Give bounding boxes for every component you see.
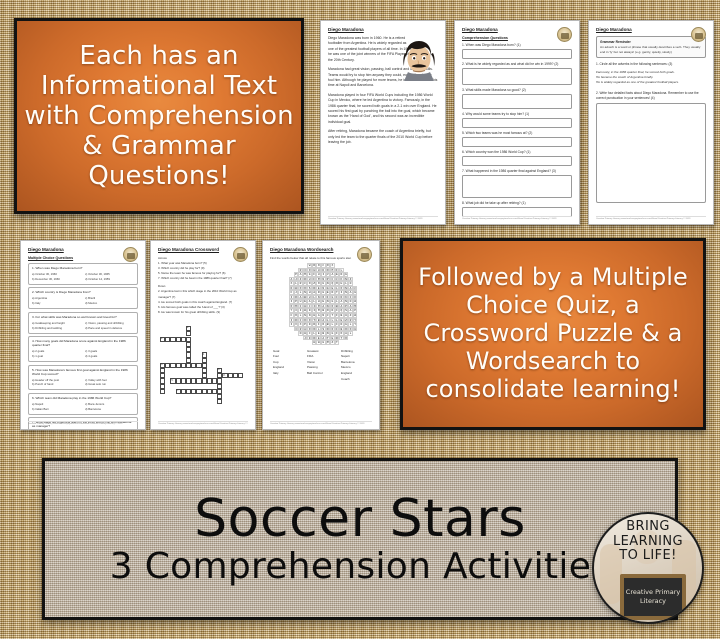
mcq-question: 5. How was Maradona's famous first goal … [32, 368, 134, 376]
promo-top-text: Each has an Informational Text with Comp… [17, 41, 301, 192]
question-text: 1. When was Diego Maradona born? (1) [462, 43, 572, 47]
question-text: 6. Which country won the 1986 World Cup?… [462, 150, 572, 154]
logo-text: BRING LEARNING TO LIFE! [594, 520, 702, 564]
wordsearch-word: Italy [273, 371, 301, 377]
logo-seal-icon [691, 27, 706, 42]
answer-box[interactable] [462, 49, 572, 59]
mcq-option[interactable]: c) October 30, 1965 [85, 272, 110, 276]
page-footer: Creative Primary Literacy www.teacherspa… [596, 216, 706, 221]
mcq-option[interactable]: b) 1 goal [32, 354, 43, 358]
page-subtitle: Multiple Choice Questions [28, 256, 138, 260]
page-footer: Creative Primary Literacy www.teacherspa… [462, 216, 572, 221]
mcq-option[interactable]: c) Brazil [85, 296, 95, 300]
mcq-option[interactable]: a) 2 goals [32, 349, 44, 353]
promo-panel-top: Each has an Informational Text with Comp… [14, 18, 304, 214]
question-text: 8. What job did he take up after retirin… [462, 201, 572, 205]
chalkboard-icon: Creative Primary Literacy [620, 574, 686, 620]
text-paragraph-3: Maradona played in four FIFA World Cups … [328, 93, 438, 126]
mcq-option[interactable]: c) 3 goals [85, 349, 97, 353]
answer-box[interactable] [462, 68, 572, 85]
mcq-option[interactable]: a) Argentina [32, 296, 47, 300]
mcq-option[interactable]: a) October 30, 1960 [32, 272, 57, 276]
page-title: Diego Maradona [28, 247, 113, 252]
banner-title: Soccer Stars [194, 493, 526, 545]
crossword-clue: 8. He was known for his great dribbling … [158, 310, 248, 315]
promo-bottom-text: Followed by a Multiple Choice Quiz, a Cr… [403, 264, 703, 403]
mcq-option[interactable]: c) Boca Juniors [85, 402, 104, 406]
mcq-item[interactable]: 6. Which team did Maradona play in the 1… [28, 393, 138, 415]
page-footer: Creative Primary Literacy www.teacherspa… [28, 421, 138, 426]
page-footer: Creative Primary Literacy www.teacherspa… [270, 421, 372, 426]
worksheet-page-wordsearch[interactable]: Diego Maradona Wordsearch Find the words… [262, 240, 380, 430]
page-title: Diego Maradona [462, 27, 547, 32]
page-title: Diego Maradona [328, 27, 438, 32]
worksheet-page-text[interactable]: Diego Maradona Diego Maradona was born i… [320, 20, 446, 225]
logo-line-3: TO LIFE! [594, 549, 702, 564]
mcq-option[interactable]: c) Volley with foot [85, 378, 107, 382]
instruction-1: 1. Circle all the adverbs in the followi… [596, 62, 706, 67]
logo-seal-icon [123, 247, 138, 262]
mcq-question: 1. When was Diego Maradona born? [32, 266, 134, 270]
mcq-option[interactable]: d) Barcelona [85, 407, 101, 411]
wordsearch-cell [353, 340, 358, 345]
answer-box[interactable] [462, 175, 572, 198]
brand-logo-badge[interactable]: BRING LEARNING TO LIFE! Creative Primary… [592, 512, 704, 624]
text-paragraph-4: After retiring, Maradona became the coac… [328, 129, 438, 145]
mcq-item[interactable]: 1. When was Diego Maradona born? a) Octo… [28, 263, 138, 285]
mcq-option[interactable]: d) October 14, 1959 [85, 277, 110, 281]
maradona-portrait-icon [399, 37, 439, 81]
logo-seal-icon [233, 247, 248, 262]
chalkboard-text: Creative Primary Literacy [624, 588, 682, 606]
mcq-option[interactable]: d) Mexico [85, 301, 97, 305]
wordsearch-word: Ball Control [307, 371, 335, 377]
worksheet-page-comprehension[interactable]: Diego Maradona Comprehension Questions 1… [454, 20, 580, 225]
logo-line-2: LEARNING [594, 535, 702, 550]
logo-line-1: BRING [594, 520, 702, 535]
worksheet-page-crossword[interactable]: Diego Maradona Crossword Across 1. What … [150, 240, 256, 430]
mcq-question: 2. Which country is Diego Maradona from? [32, 290, 134, 294]
question-text: 4. Why would some teams try to stop him?… [462, 112, 572, 116]
page-subtitle: Comprehension Questions [462, 36, 572, 40]
question-text: 3. What skills made Maradona so good? (2… [462, 88, 572, 92]
banner-subtitle: 3 Comprehension Activities [110, 549, 610, 585]
question-text: 7. What happened in the 1986 quarter fin… [462, 169, 572, 173]
grammar-reminder-box: Grammar Reminder An adverb is a word or … [596, 36, 706, 58]
mcq-option[interactable]: a) Napoli [32, 402, 43, 406]
mcq-option[interactable]: d) Pace and speed in defence [85, 326, 122, 330]
wordsearch-word: Coach [341, 377, 369, 383]
mcq-option[interactable]: a) Goalkeeping and height [32, 321, 65, 325]
page-title: Diego Maradona [596, 27, 681, 32]
mcq-option[interactable]: d) 4 goals [85, 354, 97, 358]
answer-box[interactable] [462, 118, 572, 128]
mcq-option[interactable]: c) Vision, passing and dribbling [85, 321, 124, 325]
mcq-item[interactable]: 5. How was Maradona's famous first goal … [28, 365, 138, 391]
mcq-option[interactable]: b) Italy [32, 301, 40, 305]
long-answer-box[interactable] [596, 103, 706, 203]
crossword-clue: 2. Argentina lost in this which stage in… [158, 289, 248, 299]
instruction-2: 2. Write four detailed facts about Diego… [596, 91, 706, 101]
mcq-question: 6. Which team did Maradona play in the 1… [32, 396, 134, 400]
mcq-item[interactable]: 4. How many goals did Maradona score aga… [28, 336, 138, 362]
mcq-option[interactable]: b) Dribbling and tackling [32, 326, 62, 330]
answer-box[interactable] [462, 156, 572, 166]
page-footer: Creative Primary Literacy www.teacherspa… [328, 216, 438, 221]
wordsearch-word-column-2: GreatestFIFAVisionPassingBall Control [307, 349, 335, 382]
mcq-item[interactable]: 2. Which country is Diego Maradona from?… [28, 287, 138, 309]
title-banner: Soccer Stars 3 Comprehension Activities [42, 458, 678, 620]
mcq-question: 3. For what skills was Maradona so well … [32, 315, 134, 319]
mcq-option[interactable]: b) December 30, 1960 [32, 277, 60, 281]
mcq-option[interactable]: a) Header off the post [32, 378, 59, 382]
question-text: 5. Which two teams was he most famous at… [462, 131, 572, 135]
mcq-item[interactable]: 3. For what skills was Maradona so well … [28, 312, 138, 334]
wordsearch-word-column-1: GoalFoulCupEnglandItaly [273, 349, 301, 382]
promo-panel-bottom: Followed by a Multiple Choice Quiz, a Cr… [400, 238, 706, 430]
answer-box[interactable] [462, 137, 572, 147]
reminder-body: An adverb is a word or phrase that usual… [600, 45, 702, 54]
reminder-title: Grammar Reminder [600, 40, 702, 44]
worksheet-page-grammar[interactable]: Diego Maradona Grammar Reminder An adver… [588, 20, 714, 225]
mcq-option[interactable]: b) Italian Bari [32, 407, 48, 411]
wordsearch-grid[interactable]: WROCOXRIOGUDOMFLPAMGFUIVAENGAJZRUFMNPFCK… [270, 263, 372, 345]
logo-seal-icon [357, 247, 372, 262]
page-footer: Creative Primary Literacy www.teacherspa… [158, 421, 248, 426]
mcq-question: 4. How many goals did Maradona score aga… [32, 339, 134, 347]
wordsearch-word-column-3: DribblingNapoliBarcelonaMexicoEnglandCoa… [341, 349, 369, 382]
page-title: Diego Maradona Crossword [158, 247, 228, 252]
worksheet-page-mcq[interactable]: Diego Maradona Multiple Choice Questions… [20, 240, 146, 430]
page-title: Diego Maradona Wordsearch [270, 247, 348, 252]
wordsearch-word-lists: GoalFoulCupEnglandItaly GreatestFIFAVisi… [270, 349, 372, 382]
answer-box[interactable] [462, 94, 572, 109]
mcq-option[interactable]: b) Punch of hand [32, 382, 53, 386]
logo-seal-icon [557, 27, 572, 42]
crossword-grid[interactable]: 2. 1. 4. 3. 6. 8. 5. 7. [158, 319, 248, 415]
grammar-sentence: He is widely regarded as one of the grea… [596, 80, 706, 85]
mcq-option[interactable]: d) Great solo run [85, 382, 106, 386]
question-text: 2. What is he widely regarded as and wha… [462, 62, 572, 66]
